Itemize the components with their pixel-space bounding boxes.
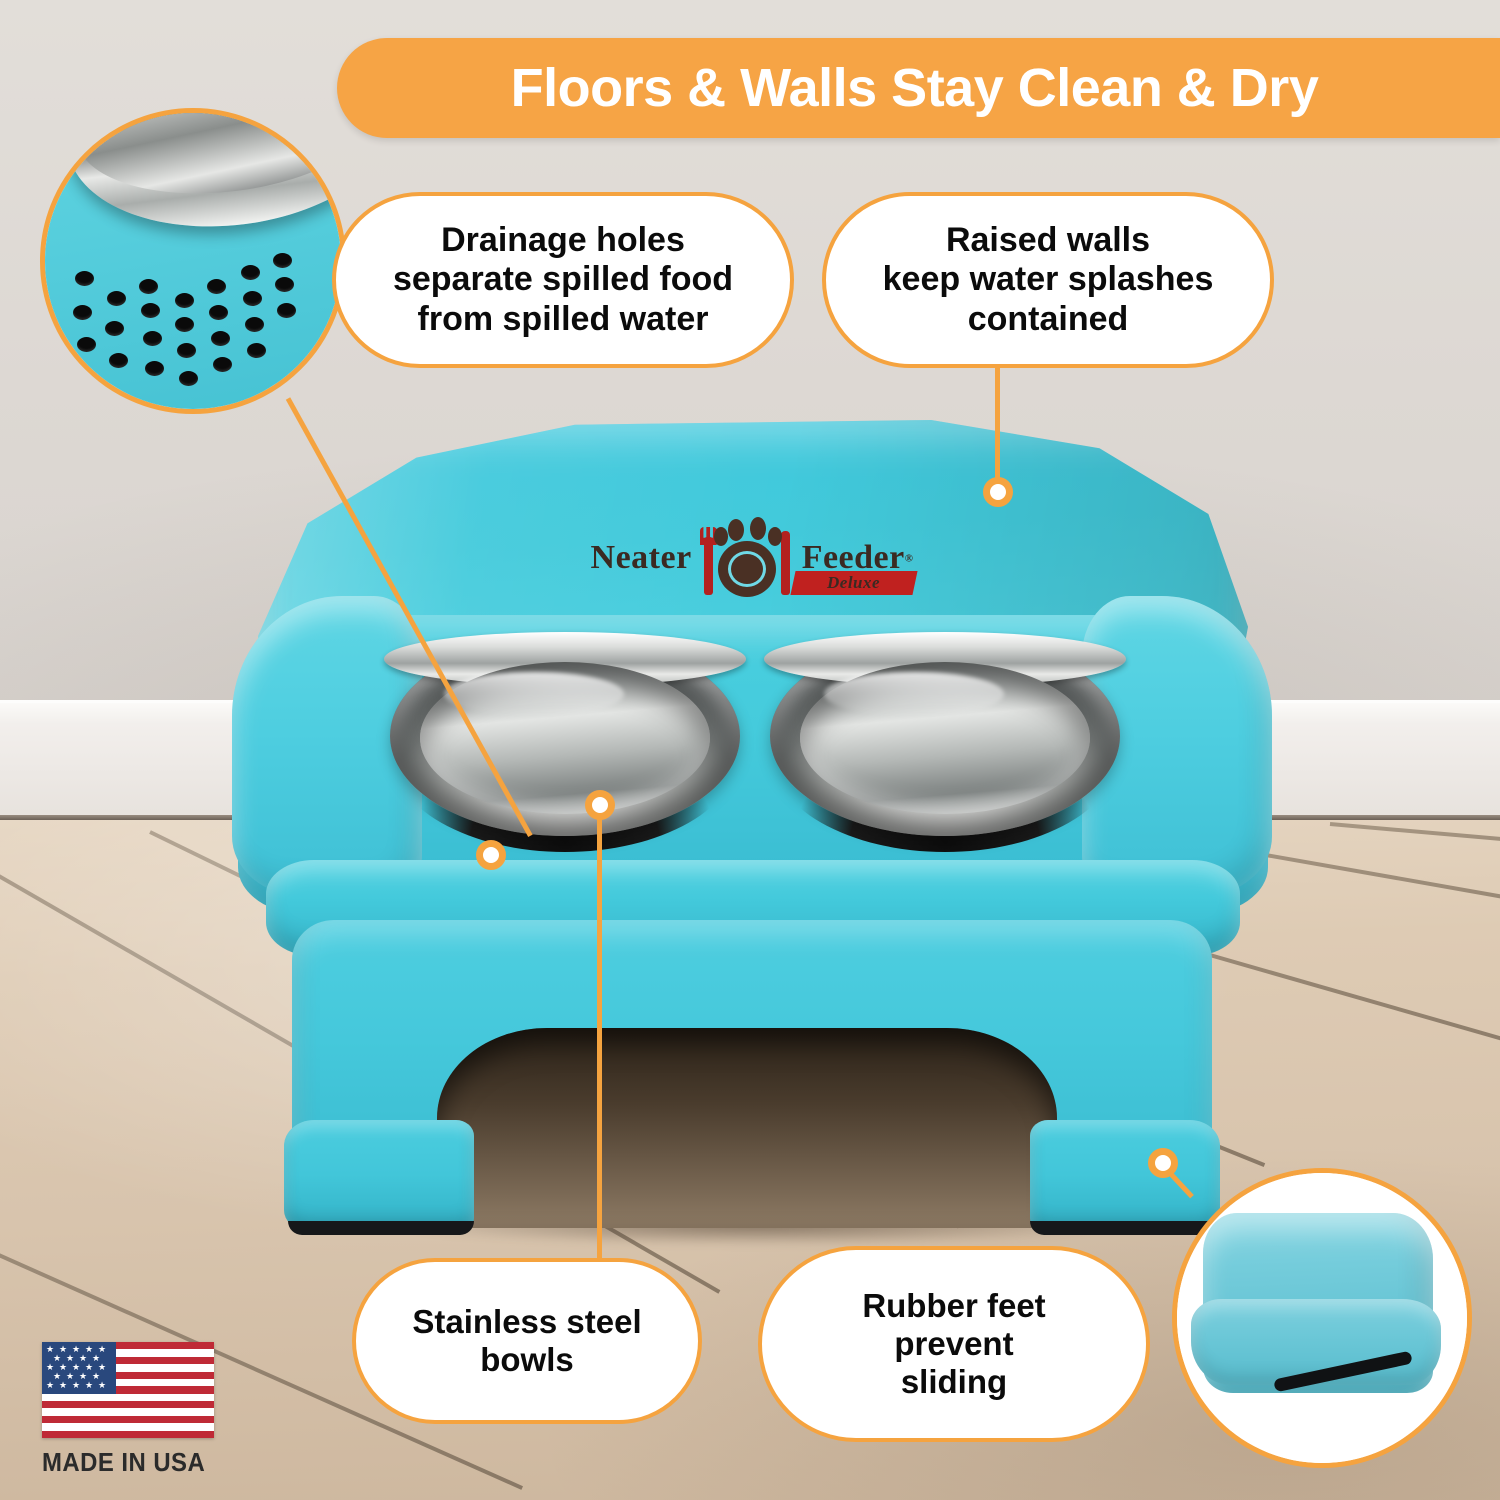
callout-walls-text: Raised walls keep water splashes contain… [861,221,1236,339]
callout-rubber-feet[interactable]: Rubber feet prevent sliding [758,1246,1150,1442]
made-in-usa-badge: ★★★★★ ★★★★ ★★★★★ ★★★★ ★★★★★ MADE IN USA [42,1342,224,1482]
stainless-bowl-right [770,636,1120,836]
connector-dot-feet [1148,1148,1178,1178]
connector-dot-drainage [476,840,506,870]
logo-word-neater: Neater [591,541,692,575]
knife-icon [781,531,790,595]
base-arch-opening [437,1028,1057,1228]
neater-feeder-product: Neater Feeder® Deluxe [232,420,1272,1230]
banner-title: Floors & Walls Stay Clean & Dry [511,57,1327,119]
connector-line-walls [995,366,1000,494]
paw-plate-icon [702,519,792,597]
made-in-usa-label: MADE IN USA [42,1447,209,1478]
callout-feet-text: Rubber feet prevent sliding [840,1287,1067,1402]
connector-line-bowls [597,800,602,1260]
callout-drainage-text: Drainage holes separate spilled food fro… [371,221,755,339]
callout-stainless-bowls[interactable]: Stainless steel bowls [352,1258,702,1424]
rubber-strip-left [288,1221,474,1235]
header-banner: Floors & Walls Stay Clean & Dry [337,38,1500,138]
connector-dot-walls [983,477,1013,507]
deluxe-ribbon: Deluxe [791,571,918,595]
infographic-canvas: Neater Feeder® Deluxe [0,0,1500,1500]
connector-dot-bowls [585,790,615,820]
callout-bowls-text: Stainless steel bowls [390,1303,663,1380]
usa-flag-icon: ★★★★★ ★★★★ ★★★★★ ★★★★ ★★★★★ [42,1342,214,1438]
inset-rubber-foot-closeup [1172,1168,1472,1468]
callout-drainage-holes[interactable]: Drainage holes separate spilled food fro… [332,192,794,368]
foot-left [284,1120,474,1230]
stainless-bowl-left [390,636,740,836]
logo-word-feeder-group: Feeder® Deluxe [802,541,914,575]
deluxe-label: Deluxe [828,573,881,593]
brand-logo: Neater Feeder® Deluxe [582,515,922,601]
inset-drainage-closeup [40,108,346,414]
registered-mark: ® [905,553,914,565]
fork-icon [704,537,713,595]
callout-raised-walls[interactable]: Raised walls keep water splashes contain… [822,192,1274,368]
